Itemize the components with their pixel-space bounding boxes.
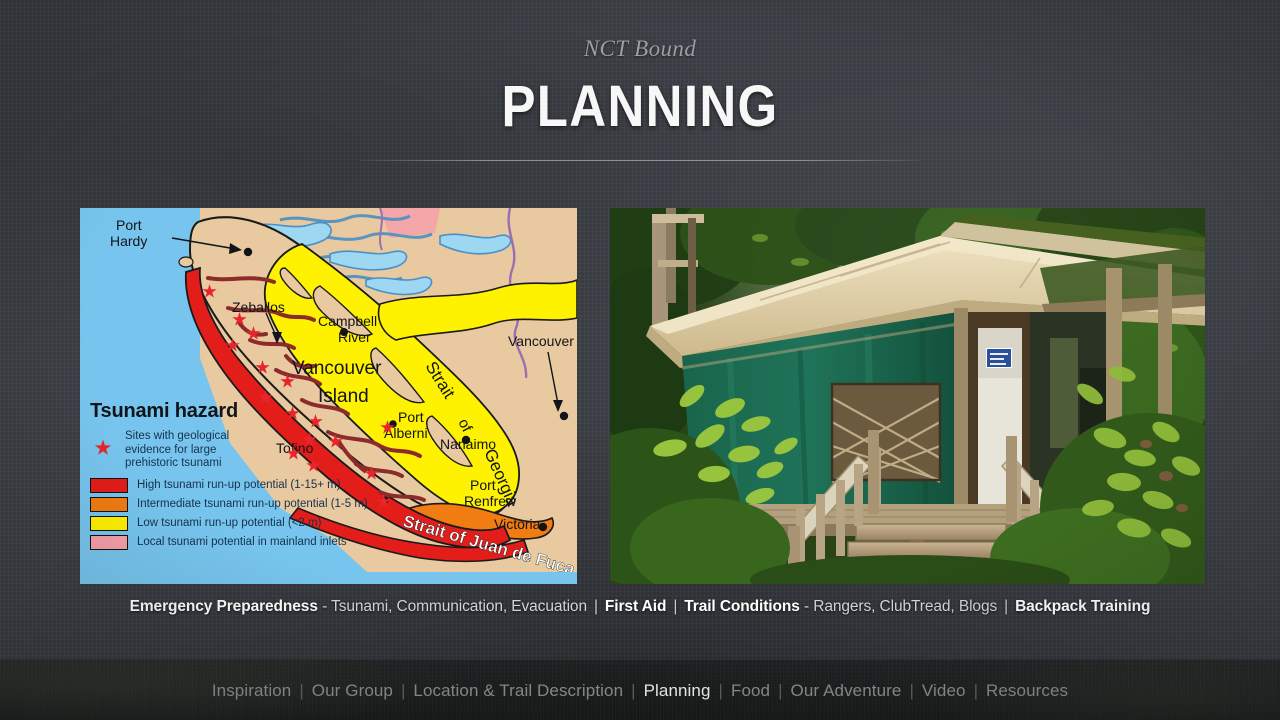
media-row: Port Hardy Zeballos Campbell River Vanco… <box>0 208 1280 584</box>
legend-label-low: Low tsunami run-up potential (<2 m) <box>137 517 321 529</box>
svg-text:Campbell: Campbell <box>318 313 377 329</box>
svg-text:Zeballos: Zeballos <box>232 299 285 315</box>
caption-item-backpack-training: Backpack Training <box>1015 598 1150 615</box>
legend-entry-high: High tsunami run-up potential (1-15+ m) <box>90 478 490 493</box>
legend-swatch-intermediate <box>90 497 128 512</box>
yurt-campsite-photo <box>610 208 1205 584</box>
nav-item-video[interactable]: Video <box>914 681 974 701</box>
nav-item-our-group[interactable]: Our Group <box>304 681 401 701</box>
presentation-subtitle: NCT Bound <box>0 36 1280 62</box>
legend-title: Tsunami hazard <box>90 400 490 423</box>
slide-caption: Emergency Preparedness - Tsunami, Commun… <box>0 598 1280 616</box>
nav-item-our-adventure[interactable]: Our Adventure <box>783 681 910 701</box>
star-icon <box>90 439 116 461</box>
legend-swatch-inlet <box>90 535 128 550</box>
legend-label-inlet: Local tsunami potential in mainland inle… <box>137 536 347 548</box>
nav-item-inspiration[interactable]: Inspiration <box>204 681 300 701</box>
map-legend: Tsunami hazard Sites with geological evi… <box>90 400 490 554</box>
legend-entry-intermediate: Intermediate tsunami run-up potential (1… <box>90 497 490 512</box>
nav-item-food[interactable]: Food <box>723 681 778 701</box>
caption-detail-trail-conditions: - Rangers, ClubTread, Blogs <box>800 598 997 615</box>
legend-star-entry: Sites with geological evidence for large… <box>90 430 490 471</box>
legend-swatch-low <box>90 516 128 531</box>
svg-text:Port: Port <box>116 217 142 233</box>
svg-text:Vancouver: Vancouver <box>508 333 574 349</box>
svg-text:Hardy: Hardy <box>110 233 147 249</box>
legend-label-intermediate: Intermediate tsunami run-up potential (1… <box>137 498 368 510</box>
title-divider <box>360 160 920 161</box>
svg-text:Vancouver: Vancouver <box>292 358 382 379</box>
slide-header: NCT Bound PLANNING <box>0 0 1280 138</box>
caption-detail-emergency-preparedness: - Tsunami, Communication, Evacuation <box>318 598 587 615</box>
tsunami-hazard-map-image: Port Hardy Zeballos Campbell River Vanco… <box>80 208 577 584</box>
nav-item-location-trail-description[interactable]: Location & Trail Description <box>405 681 631 701</box>
legend-entry-inlet: Local tsunami potential in mainland inle… <box>90 535 490 550</box>
svg-text:River: River <box>338 329 371 345</box>
legend-swatch-high <box>90 478 128 493</box>
section-navigation[interactable]: Inspiration | Our Group | Location & Tra… <box>0 660 1280 720</box>
caption-separator: | <box>587 598 605 615</box>
caption-item-trail-conditions: Trail Conditions <box>684 598 800 615</box>
caption-separator: | <box>666 598 684 615</box>
legend-label-high: High tsunami run-up potential (1-15+ m) <box>137 479 341 491</box>
caption-separator: | <box>997 598 1015 615</box>
legend-entry-low: Low tsunami run-up potential (<2 m) <box>90 516 490 531</box>
caption-item-first-aid: First Aid <box>605 598 666 615</box>
nav-item-planning[interactable]: Planning <box>636 681 719 701</box>
page-title: PLANNING <box>77 76 1203 138</box>
caption-item-emergency-preparedness: Emergency Preparedness <box>130 598 318 615</box>
legend-star-note: Sites with geological evidence for large… <box>125 430 229 471</box>
nav-item-resources[interactable]: Resources <box>978 681 1076 701</box>
footer-bar: Inspiration | Our Group | Location & Tra… <box>0 659 1280 720</box>
svg-text:Victoria: Victoria <box>494 516 541 532</box>
